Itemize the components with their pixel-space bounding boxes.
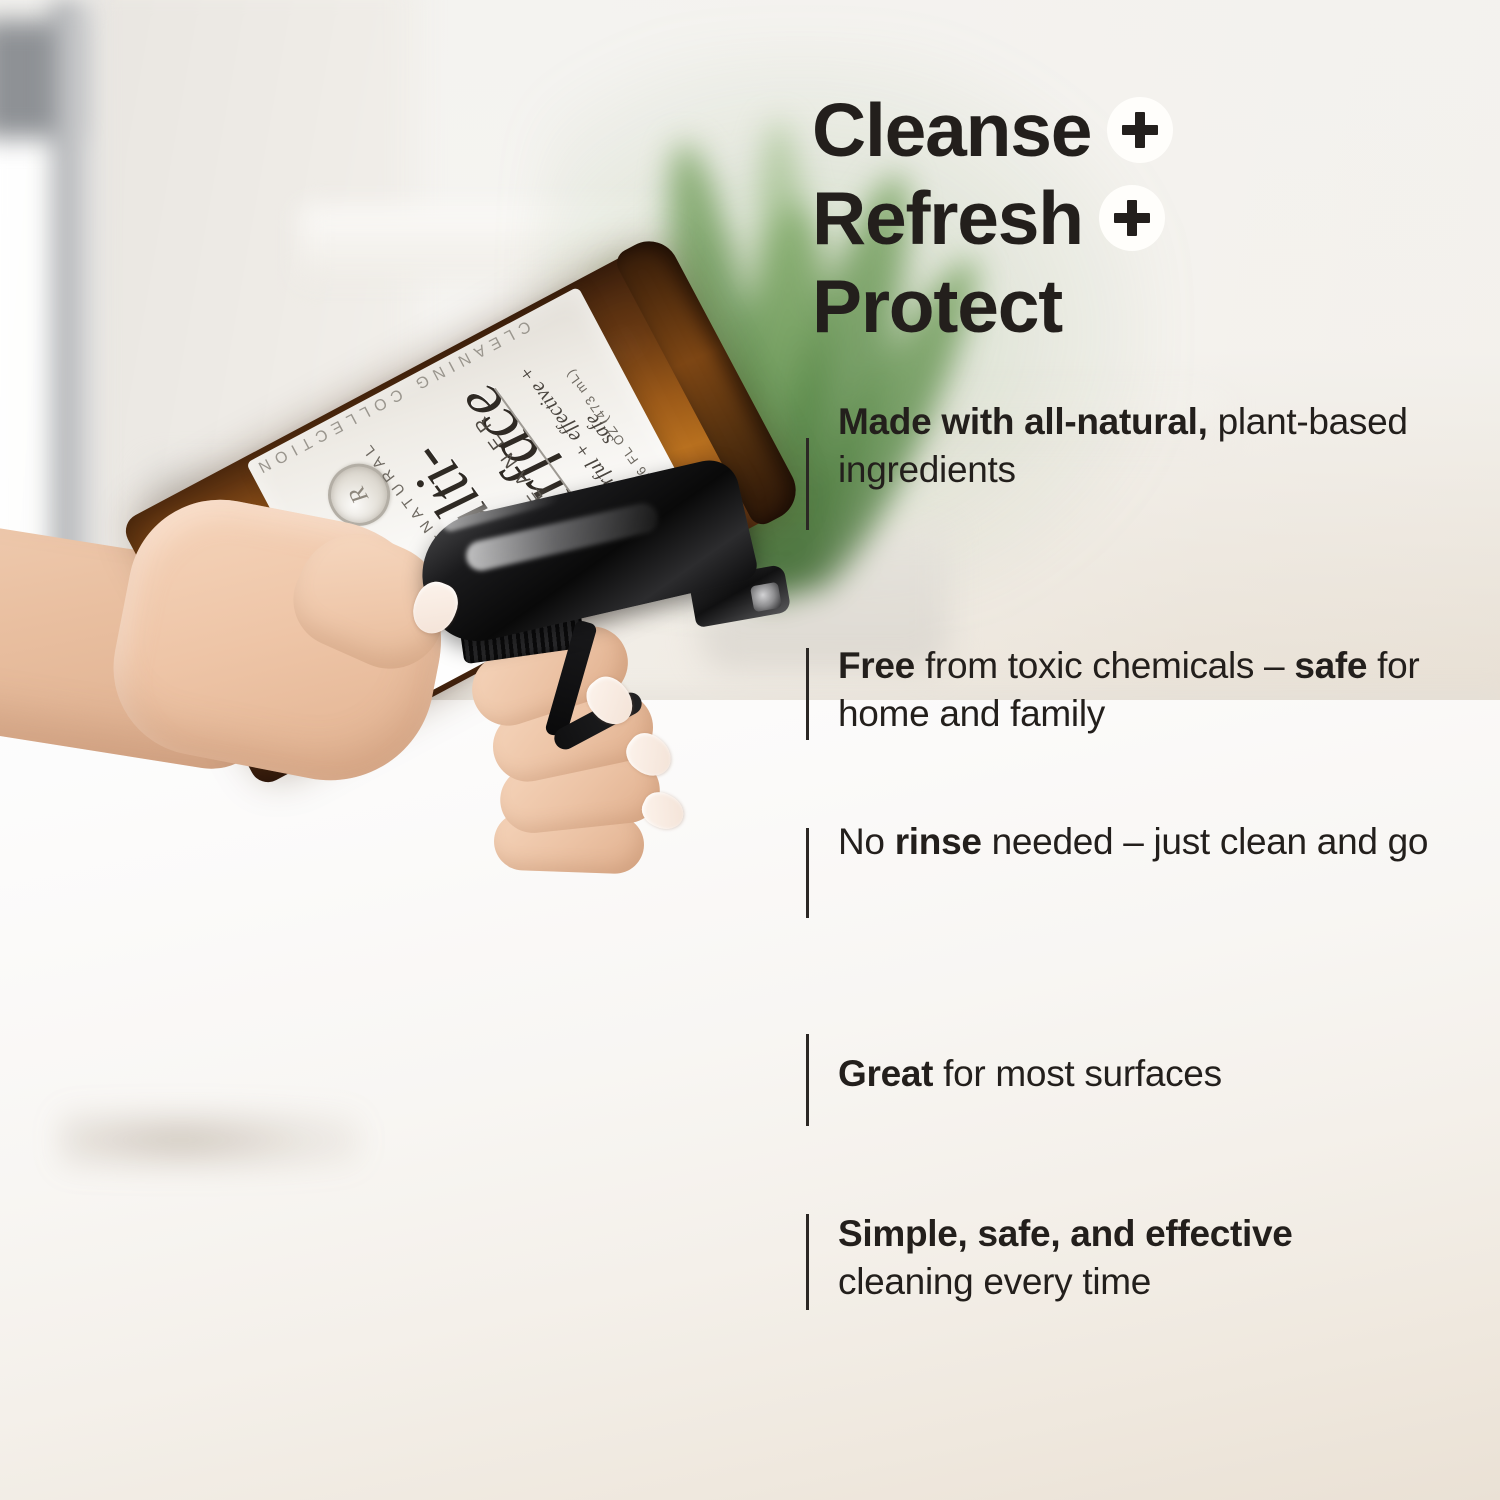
benefit-item-non-toxic: Free from toxic chemicals – safe for hom…	[802, 642, 1492, 738]
benefit-rest-text: needed – just clean and go	[982, 821, 1429, 862]
bullet-bar-icon	[806, 648, 809, 740]
headline-text-protect: Protect	[812, 268, 1062, 345]
benefit-rest-text: for most surfaces	[933, 1053, 1222, 1094]
benefit-bold-text-2: safe	[1294, 645, 1367, 686]
benefit-item-surfaces: Great for most surfaces	[802, 1050, 1462, 1098]
infographic-canvas: CLEANING COLLECTION R ALL-NATURAL multi-…	[0, 0, 1500, 1500]
headline: Cleanse Refresh Protect	[812, 86, 1472, 350]
benefit-bold-text: Free	[838, 645, 915, 686]
benefit-bold-text: Great	[838, 1053, 933, 1094]
headline-text-cleanse: Cleanse	[812, 92, 1091, 169]
benefit-bold-text: Simple, safe, and effective	[838, 1213, 1293, 1254]
headline-line-1: Cleanse	[812, 86, 1472, 174]
product-photo: CLEANING COLLECTION R ALL-NATURAL multi-…	[0, 470, 800, 1170]
benefit-item-no-rinse: No rinse needed – just clean and go	[802, 818, 1462, 866]
bullet-bar-icon	[806, 828, 809, 918]
headline-line-3: Protect	[812, 262, 1472, 350]
seal-monogram: R	[344, 482, 375, 508]
benefit-rest-text: cleaning every time	[838, 1261, 1151, 1302]
bullet-bar-icon	[806, 438, 809, 530]
plus-icon	[1107, 97, 1173, 163]
bottle-shadow	[60, 1110, 360, 1170]
headline-text-refresh: Refresh	[812, 180, 1083, 257]
benefit-rest-text: from toxic chemicals –	[915, 645, 1294, 686]
plus-icon	[1099, 185, 1165, 251]
headline-line-2: Refresh	[812, 174, 1472, 262]
benefit-bold-text: Made with all-natural,	[838, 401, 1208, 442]
benefit-bold-text: rinse	[895, 821, 982, 862]
bullet-bar-icon	[806, 1214, 809, 1310]
benefit-item-effective: Simple, safe, and effective cleaning eve…	[802, 1210, 1422, 1306]
benefit-pre-text: No	[838, 821, 895, 862]
bullet-bar-icon	[806, 1034, 809, 1126]
benefit-item-ingredients: Made with all-natural, plant-based ingre…	[802, 398, 1462, 494]
sprayer-nozzle-tip	[750, 582, 782, 612]
